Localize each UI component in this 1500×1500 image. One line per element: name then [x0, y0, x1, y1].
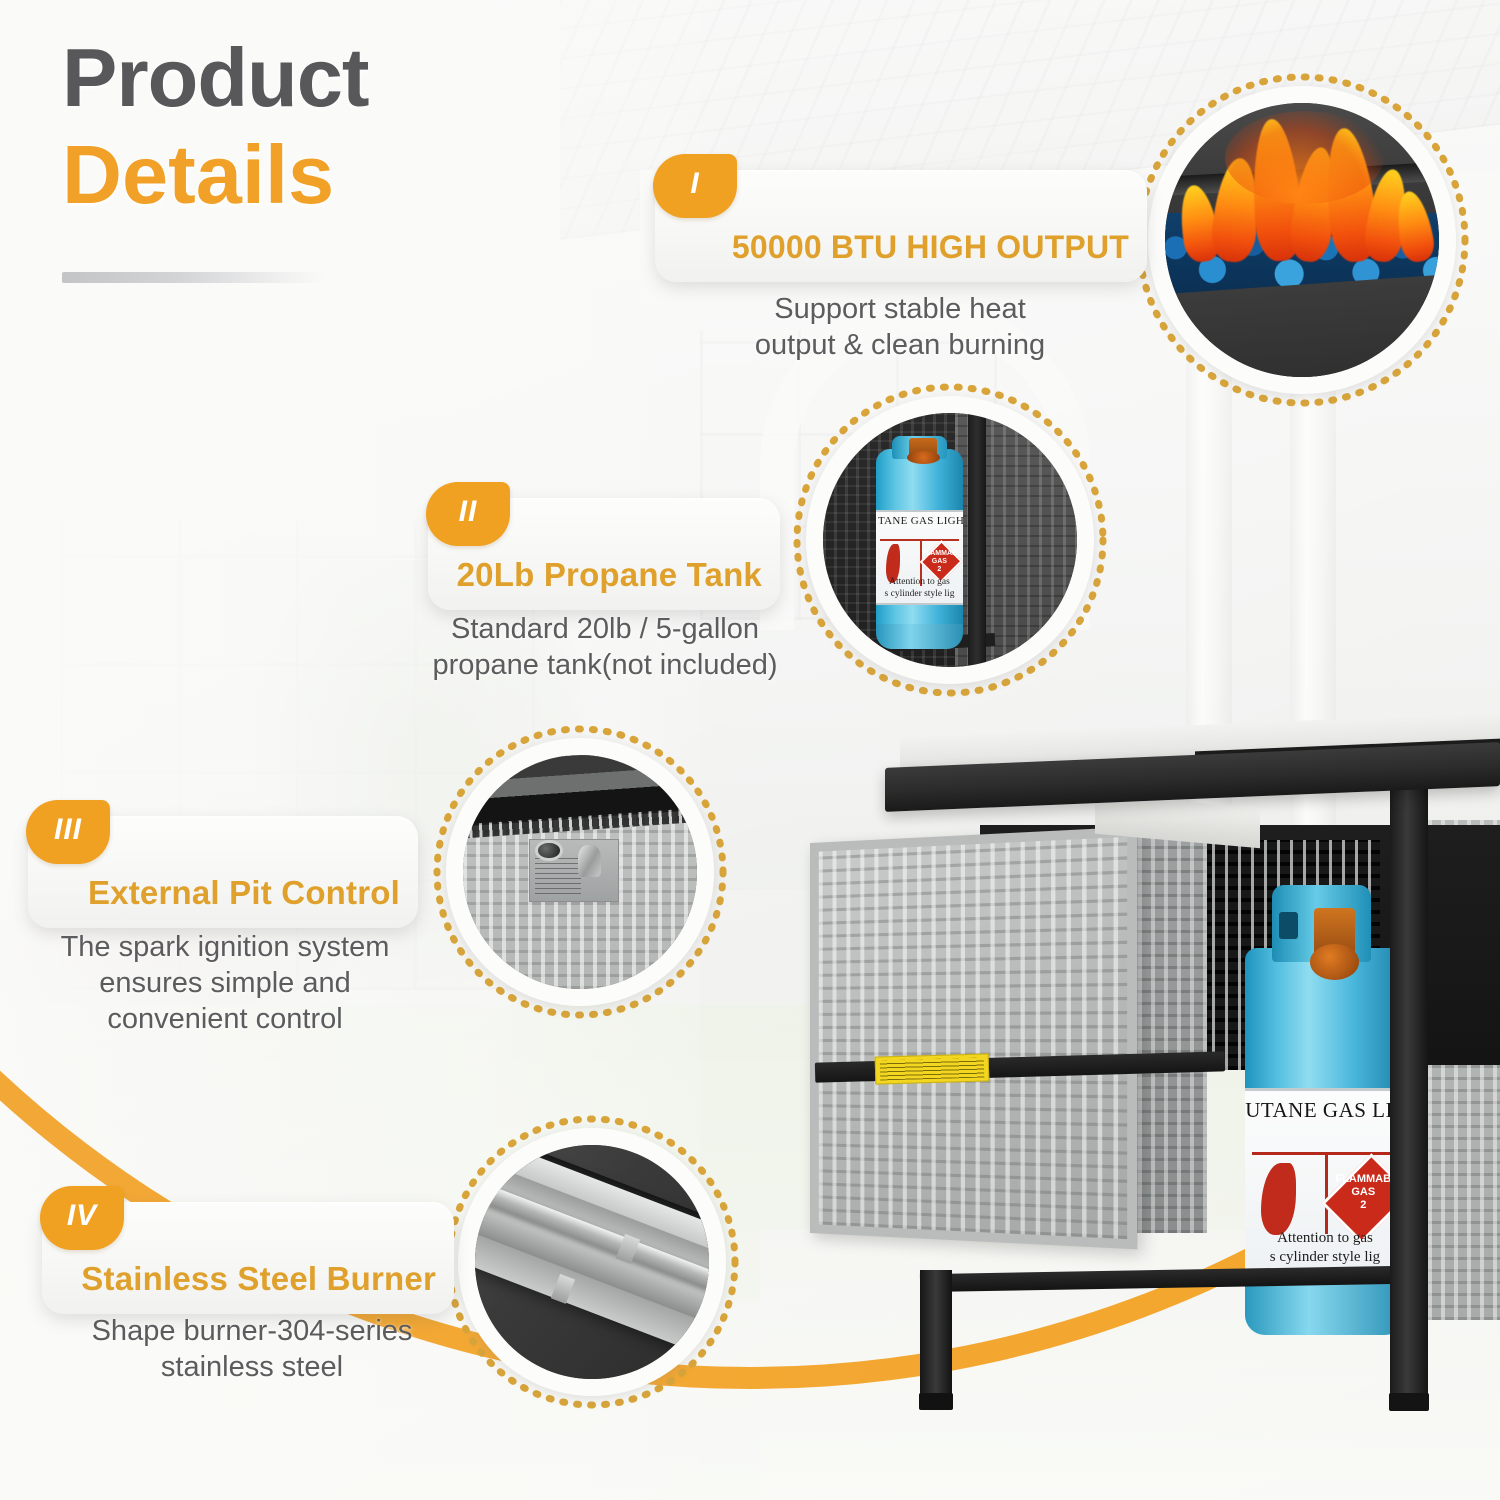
feature-photo-circle-3	[430, 722, 730, 1022]
feature-numeral-badge-3: III	[26, 800, 110, 864]
feature-card-1[interactable]: I 50000 BTU HIGH OUTPUT	[655, 170, 1147, 282]
feature-card-2[interactable]: II 20Lb Propane Tank	[428, 498, 780, 610]
photo-flames	[1165, 103, 1439, 377]
feature-numeral-1: I	[653, 154, 737, 218]
feature-title-4: Stainless Steel Burner	[42, 1260, 436, 1298]
feature-photo-circle-2: TANE GAS LIGH FLAMMAB GAS 2 Attention to…	[790, 380, 1110, 700]
photo-propane-tank-in-cabinet: TANE GAS LIGH FLAMMAB GAS 2 Attention to…	[823, 413, 1077, 667]
table-foot-left	[919, 1393, 953, 1410]
feature-title-3: External Pit Control	[28, 874, 400, 912]
page-title-line2: Details	[62, 133, 369, 216]
feature-card-3[interactable]: III External Pit Control	[28, 816, 418, 928]
table-leg-left	[920, 1270, 952, 1400]
feature-numeral-badge-2: II	[426, 482, 510, 546]
feature-title-2: 20Lb Propane Tank	[428, 556, 762, 594]
infographic-canvas: Product Details TANE G	[0, 0, 1500, 1500]
title-underline	[62, 272, 324, 283]
page-title: Product Details	[62, 36, 369, 216]
feature-numeral-badge-4: IV	[40, 1186, 124, 1250]
yellow-warning-label	[875, 1053, 990, 1084]
feature-card-4[interactable]: IV Stainless Steel Burner	[42, 1202, 454, 1314]
tank-label-bottom-text: Attention to gas s cylinder style lig	[879, 577, 960, 601]
feature-description-3: The spark ignition system ensures simple…	[30, 930, 420, 1038]
tank-label-bottom-text: Attention to gas s cylinder style lig	[1250, 1229, 1400, 1267]
feature-description-4: Shape burner-304-series stainless steel	[50, 1314, 454, 1386]
photo-external-control-panel	[463, 755, 697, 989]
table-foot-right	[1389, 1393, 1429, 1411]
cabinet-door-open[interactable]	[810, 827, 1137, 1250]
feature-numeral-badge-1: I	[653, 154, 737, 218]
feature-numeral-2: II	[426, 482, 510, 546]
tank-label-top-text: UTANE GAS LIGH	[1245, 1098, 1405, 1123]
table-leg-right	[1390, 780, 1428, 1400]
photo-stainless-burner	[475, 1145, 709, 1379]
feature-description-2: Standard 20lb / 5-gallon propane tank(no…	[420, 612, 790, 684]
feature-description-1: Support stable heat output & clean burni…	[660, 292, 1140, 364]
page-title-line1: Product	[62, 36, 369, 119]
tank-label: TANE GAS LIGH FLAMMAB GAS 2 Attention to…	[876, 510, 962, 605]
control-panel-plate	[529, 839, 620, 902]
flammable-warning-text: FLAMMAB GAS 2	[1328, 1173, 1398, 1211]
flame-icon	[1261, 1163, 1296, 1235]
tank-label: UTANE GAS LIGH FLAMMAB GAS 2 Attention t…	[1245, 1088, 1405, 1274]
feature-title-1: 50000 BTU HIGH OUTPUT	[655, 229, 1129, 266]
valve-handle-icon	[578, 845, 601, 877]
tank-label-top-text: TANE GAS LIGH	[878, 515, 961, 527]
ignition-knob-icon	[538, 843, 559, 859]
feature-photo-circle-1	[1132, 70, 1472, 410]
feature-photo-circle-4	[442, 1112, 742, 1412]
flammable-warning-text: FLAMMAB GAS 2	[921, 550, 957, 574]
feature-numeral-4: IV	[40, 1186, 124, 1250]
main-product-photo-fire-pit-table: UTANE GAS LIGH FLAMMAB GAS 2 Attention t…	[795, 725, 1500, 1440]
feature-numeral-3: III	[26, 800, 110, 864]
